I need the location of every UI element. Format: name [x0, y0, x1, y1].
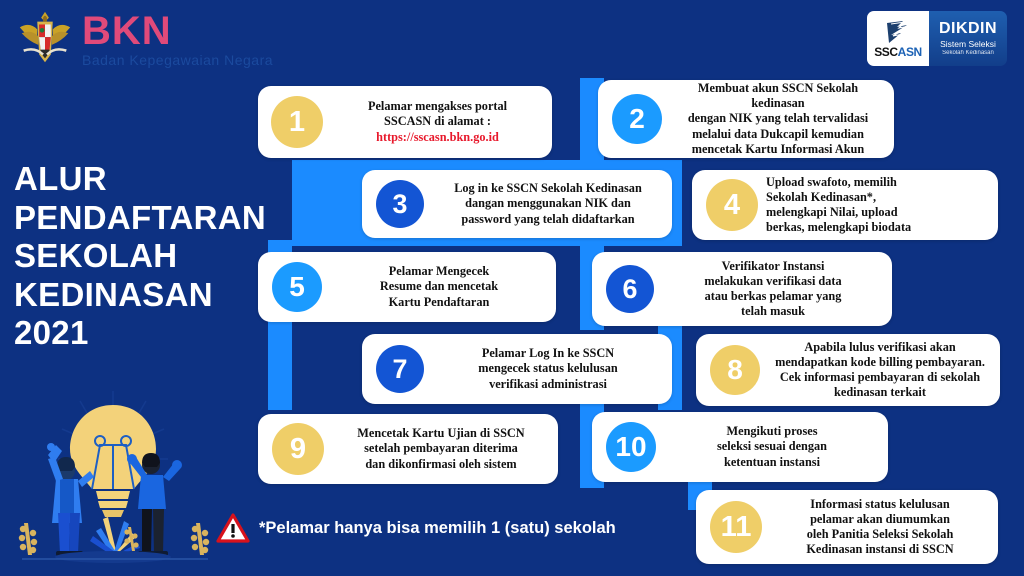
step-card-4: 4Upload swafoto, memilihSekolah Kedinasa… — [692, 170, 998, 240]
step-text-3: Log in ke SSCN Sekolah Kedinasandangan m… — [424, 181, 672, 227]
step-text-9: Mencetak Kartu Ujian di SSCNsetelah pemb… — [324, 426, 558, 472]
step-text-2: Membuat akun SSCN Sekolah kedinasandenga… — [662, 81, 894, 157]
step-text-line: seleksi sesuai dengan — [664, 439, 880, 454]
sscasn-logo-block: SSCASN — [867, 11, 929, 66]
step-text-8: Apabila lulus verifikasi akanmendapatkan… — [760, 340, 1000, 401]
step-text-line: Mengikuti proses — [664, 424, 880, 439]
step-text-line: melengkapi Nilai, upload — [766, 205, 990, 220]
step-text-line: Pelamar Log In ke SSCN — [432, 346, 664, 361]
step-text-line: Membuat akun SSCN Sekolah kedinasan — [670, 81, 886, 111]
step-text-line: Apabila lulus verifikasi akan — [768, 340, 992, 355]
step-card-3: 3Log in ke SSCN Sekolah Kedinasandangan … — [362, 170, 672, 238]
step-text-line: melakukan verifikasi data — [662, 274, 884, 289]
step-number-9: 9 — [272, 423, 324, 475]
step-text-line: verifikasi administrasi — [432, 377, 664, 392]
step-text-line: dengan NIK yang telah tervalidasi — [670, 111, 886, 126]
step-text-line: dan dikonfirmasi oleh sistem — [332, 457, 550, 472]
step-card-10: 10Mengikuti prosesseleksi sesuai dengank… — [592, 412, 888, 482]
step-text-line: Informasi status kelulusan — [770, 497, 990, 512]
step-text-line: Kartu Pendaftaran — [330, 295, 548, 310]
step-text-line: dangan menggunakan NIK dan — [432, 196, 664, 211]
step-number-5: 5 — [272, 262, 322, 312]
step-text-line: SSCASN di alamat : — [331, 114, 544, 129]
step-url[interactable]: https://sscasn.bkn.go.id — [331, 130, 544, 145]
brand-subtitle: Badan Kepegawaian Negara — [82, 53, 273, 67]
step-text-line: Kedinasan instansi di SSCN — [770, 542, 990, 557]
step-text-10: Mengikuti prosesseleksi sesuai denganket… — [656, 424, 888, 470]
step-card-8: 8Apabila lulus verifikasi akanmendapatka… — [696, 334, 1000, 406]
step-card-9: 9Mencetak Kartu Ujian di SSCNsetelah pem… — [258, 414, 558, 484]
step-card-1: 1Pelamar mengakses portalSSCASN di alama… — [258, 86, 552, 158]
step-text-6: Verifikator Instansimelakukan verifikasi… — [654, 259, 892, 320]
step-text-7: Pelamar Log In ke SSCNmengecek status ke… — [424, 346, 672, 392]
garuda-emblem-icon — [14, 8, 76, 70]
flow-band-7 — [268, 322, 292, 410]
dikdin-sub1: Sistem Seleksi — [940, 39, 996, 49]
sscasn-dikdin-logo: SSCASN DIKDIN Sistem Seleksi Sekolah Ked… — [867, 11, 1007, 66]
step-number-8: 8 — [710, 345, 760, 395]
step-text-line: oleh Panitia Seleksi Sekolah — [770, 527, 990, 542]
sscasn-mark-icon — [883, 19, 913, 45]
step-text-line: Pelamar mengakses portal — [331, 99, 544, 114]
step-card-2: 2Membuat akun SSCN Sekolah kedinasandeng… — [598, 80, 894, 158]
step-text-11: Informasi status kelulusanpelamar akan d… — [762, 497, 998, 558]
step-text-1: Pelamar mengakses portalSSCASN di alamat… — [323, 99, 552, 145]
step-number-11: 11 — [710, 501, 762, 553]
step-card-6: 6Verifikator Instansimelakukan verifikas… — [592, 252, 892, 326]
step-text-line: mengecek status kelulusan — [432, 361, 664, 376]
step-number-10: 10 — [606, 422, 656, 472]
step-text-line: atau berkas pelamar yang — [662, 289, 884, 304]
step-text-line: Pelamar Mengecek — [330, 264, 548, 279]
step-card-5: 5Pelamar MengecekResume dan mencetakKart… — [258, 252, 556, 322]
step-text-line: setelah pembayaran diterima — [332, 441, 550, 456]
footnote-text: *Pelamar hanya bisa memilih 1 (satu) sek… — [259, 519, 616, 538]
dikdin-block: DIKDIN Sistem Seleksi Sekolah Kedinasan — [929, 11, 1007, 66]
step-text-4: Upload swafoto, memilihSekolah Kedinasan… — [758, 175, 998, 236]
step-number-3: 3 — [376, 180, 424, 228]
step-text-line: Resume dan mencetak — [330, 279, 548, 294]
step-text-line: melalui data Dukcapil kemudian — [670, 127, 886, 142]
step-text-line: ketentuan instansi — [664, 455, 880, 470]
step-text-line: Upload swafoto, memilih — [766, 175, 990, 190]
lightbulb-idea-people-illustration — [8, 383, 223, 568]
step-text-line: mencetak Kartu Informasi Akun — [670, 142, 886, 157]
step-card-11: 11Informasi status kelulusanpelamar akan… — [696, 490, 998, 564]
step-text-line: kedinasan terkait — [768, 385, 992, 400]
step-text-line: Verifikator Instansi — [662, 259, 884, 274]
footnote: *Pelamar hanya bisa memilih 1 (satu) sek… — [216, 513, 616, 543]
dikdin-title: DIKDIN — [939, 21, 997, 37]
step-number-4: 4 — [706, 179, 758, 231]
step-text-line: mendapatkan kode billing pembayaran. — [768, 355, 992, 370]
step-text-line: Log in ke SSCN Sekolah Kedinasan — [432, 181, 664, 196]
step-number-1: 1 — [271, 96, 323, 148]
step-number-7: 7 — [376, 345, 424, 393]
step-text-line: Cek informasi pembayaran di sekolah — [768, 370, 992, 385]
step-number-6: 6 — [606, 265, 654, 313]
step-text-line: berkas, melengkapi biodata — [766, 220, 990, 235]
dikdin-sub2: Sekolah Kedinasan — [942, 50, 994, 56]
step-text-line: pelamar akan diumumkan — [770, 512, 990, 527]
step-card-7: 7Pelamar Log In ke SSCNmengecek status k… — [362, 334, 672, 404]
step-text-5: Pelamar MengecekResume dan mencetakKartu… — [322, 264, 556, 310]
step-text-line: Sekolah Kedinasan*, — [766, 190, 990, 205]
step-text-line: Mencetak Kartu Ujian di SSCN — [332, 426, 550, 441]
step-text-line: password yang telah didaftarkan — [432, 212, 664, 227]
bkn-logo: BKN Badan Kepegawaian Negara — [14, 8, 273, 70]
step-number-2: 2 — [612, 94, 662, 144]
step-text-line: telah masuk — [662, 304, 884, 319]
page-title: ALURPENDAFTARANSEKOLAHKEDINASAN2021 — [14, 160, 266, 353]
sscasn-wordmark: SSCASN — [874, 46, 922, 58]
brand-name: BKN — [82, 11, 273, 51]
